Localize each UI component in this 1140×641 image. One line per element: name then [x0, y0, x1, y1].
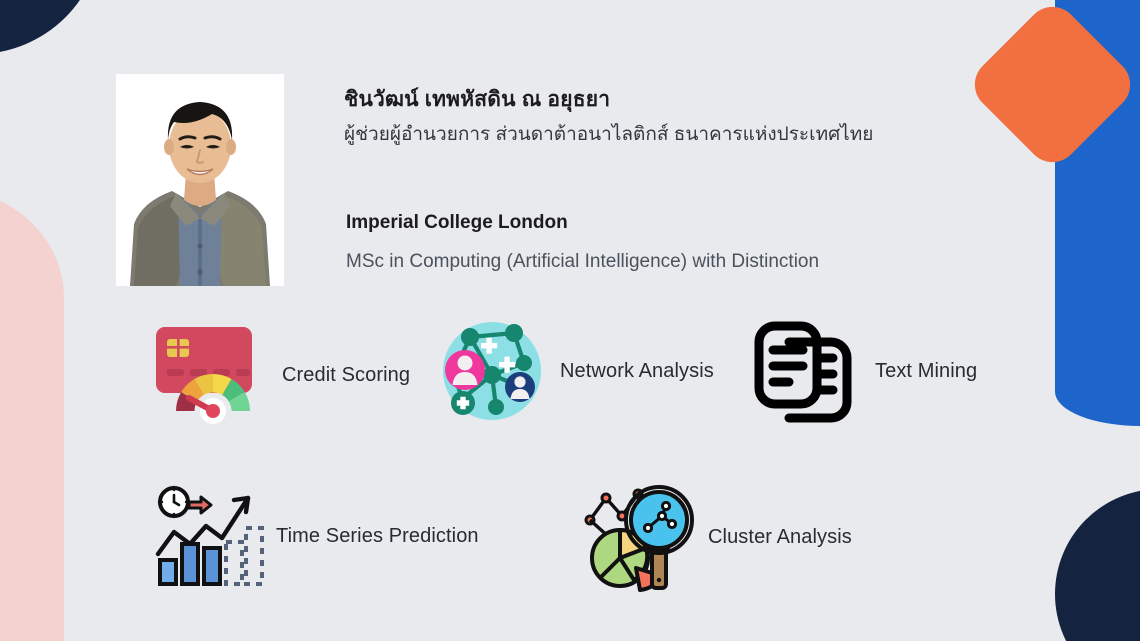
topic-network-analysis: Network Analysis [436, 315, 714, 427]
topic-credit-scoring: Credit Scoring [150, 315, 410, 435]
pie-chart-magnifier-icon [578, 480, 696, 594]
credit-card-gauge-icon [150, 315, 270, 435]
topic-label-time-series-prediction: Time Series Prediction [276, 525, 479, 548]
education-degree: MSc in Computing (Artificial Intelligenc… [346, 248, 1046, 277]
slide-canvas: ชินวัฒน์ เทพหัสดิน ณ อยุธยา ผู้ช่วยผู้อำ… [0, 0, 1140, 641]
navy-circle-top-left-shape [0, 0, 102, 54]
education-school: Imperial College London [346, 209, 1046, 238]
education-block: Imperial College London MSc in Computing… [346, 209, 1046, 276]
topic-label-network-analysis: Network Analysis [560, 360, 714, 383]
navy-circle-bottom-right-shape [1055, 489, 1140, 641]
topic-label-credit-scoring: Credit Scoring [282, 364, 410, 387]
stacked-documents-icon [745, 312, 863, 430]
profile-role: ผู้ช่วยผู้อำนวยการ ส่วนดาต้าอนาไลติกส์ ธ… [344, 120, 1044, 150]
topic-cluster-analysis: Cluster Analysis [578, 480, 852, 594]
pink-band-left-shape [0, 188, 64, 641]
topic-label-cluster-analysis: Cluster Analysis [708, 526, 852, 549]
network-graph-people-icon [436, 315, 548, 427]
profile-header: ชินวัฒน์ เทพหัสดิน ณ อยุธยา ผู้ช่วยผู้อำ… [344, 84, 1044, 150]
portrait-photo [116, 74, 284, 286]
profile-name: ชินวัฒน์ เทพหัสดิน ณ อยุธยา [344, 84, 1044, 116]
topic-text-mining: Text Mining [745, 312, 977, 430]
topic-label-text-mining: Text Mining [875, 360, 977, 383]
portrait-illustration [116, 74, 284, 286]
clock-trend-bars-icon [152, 482, 264, 590]
topic-time-series-prediction: Time Series Prediction [152, 482, 479, 590]
